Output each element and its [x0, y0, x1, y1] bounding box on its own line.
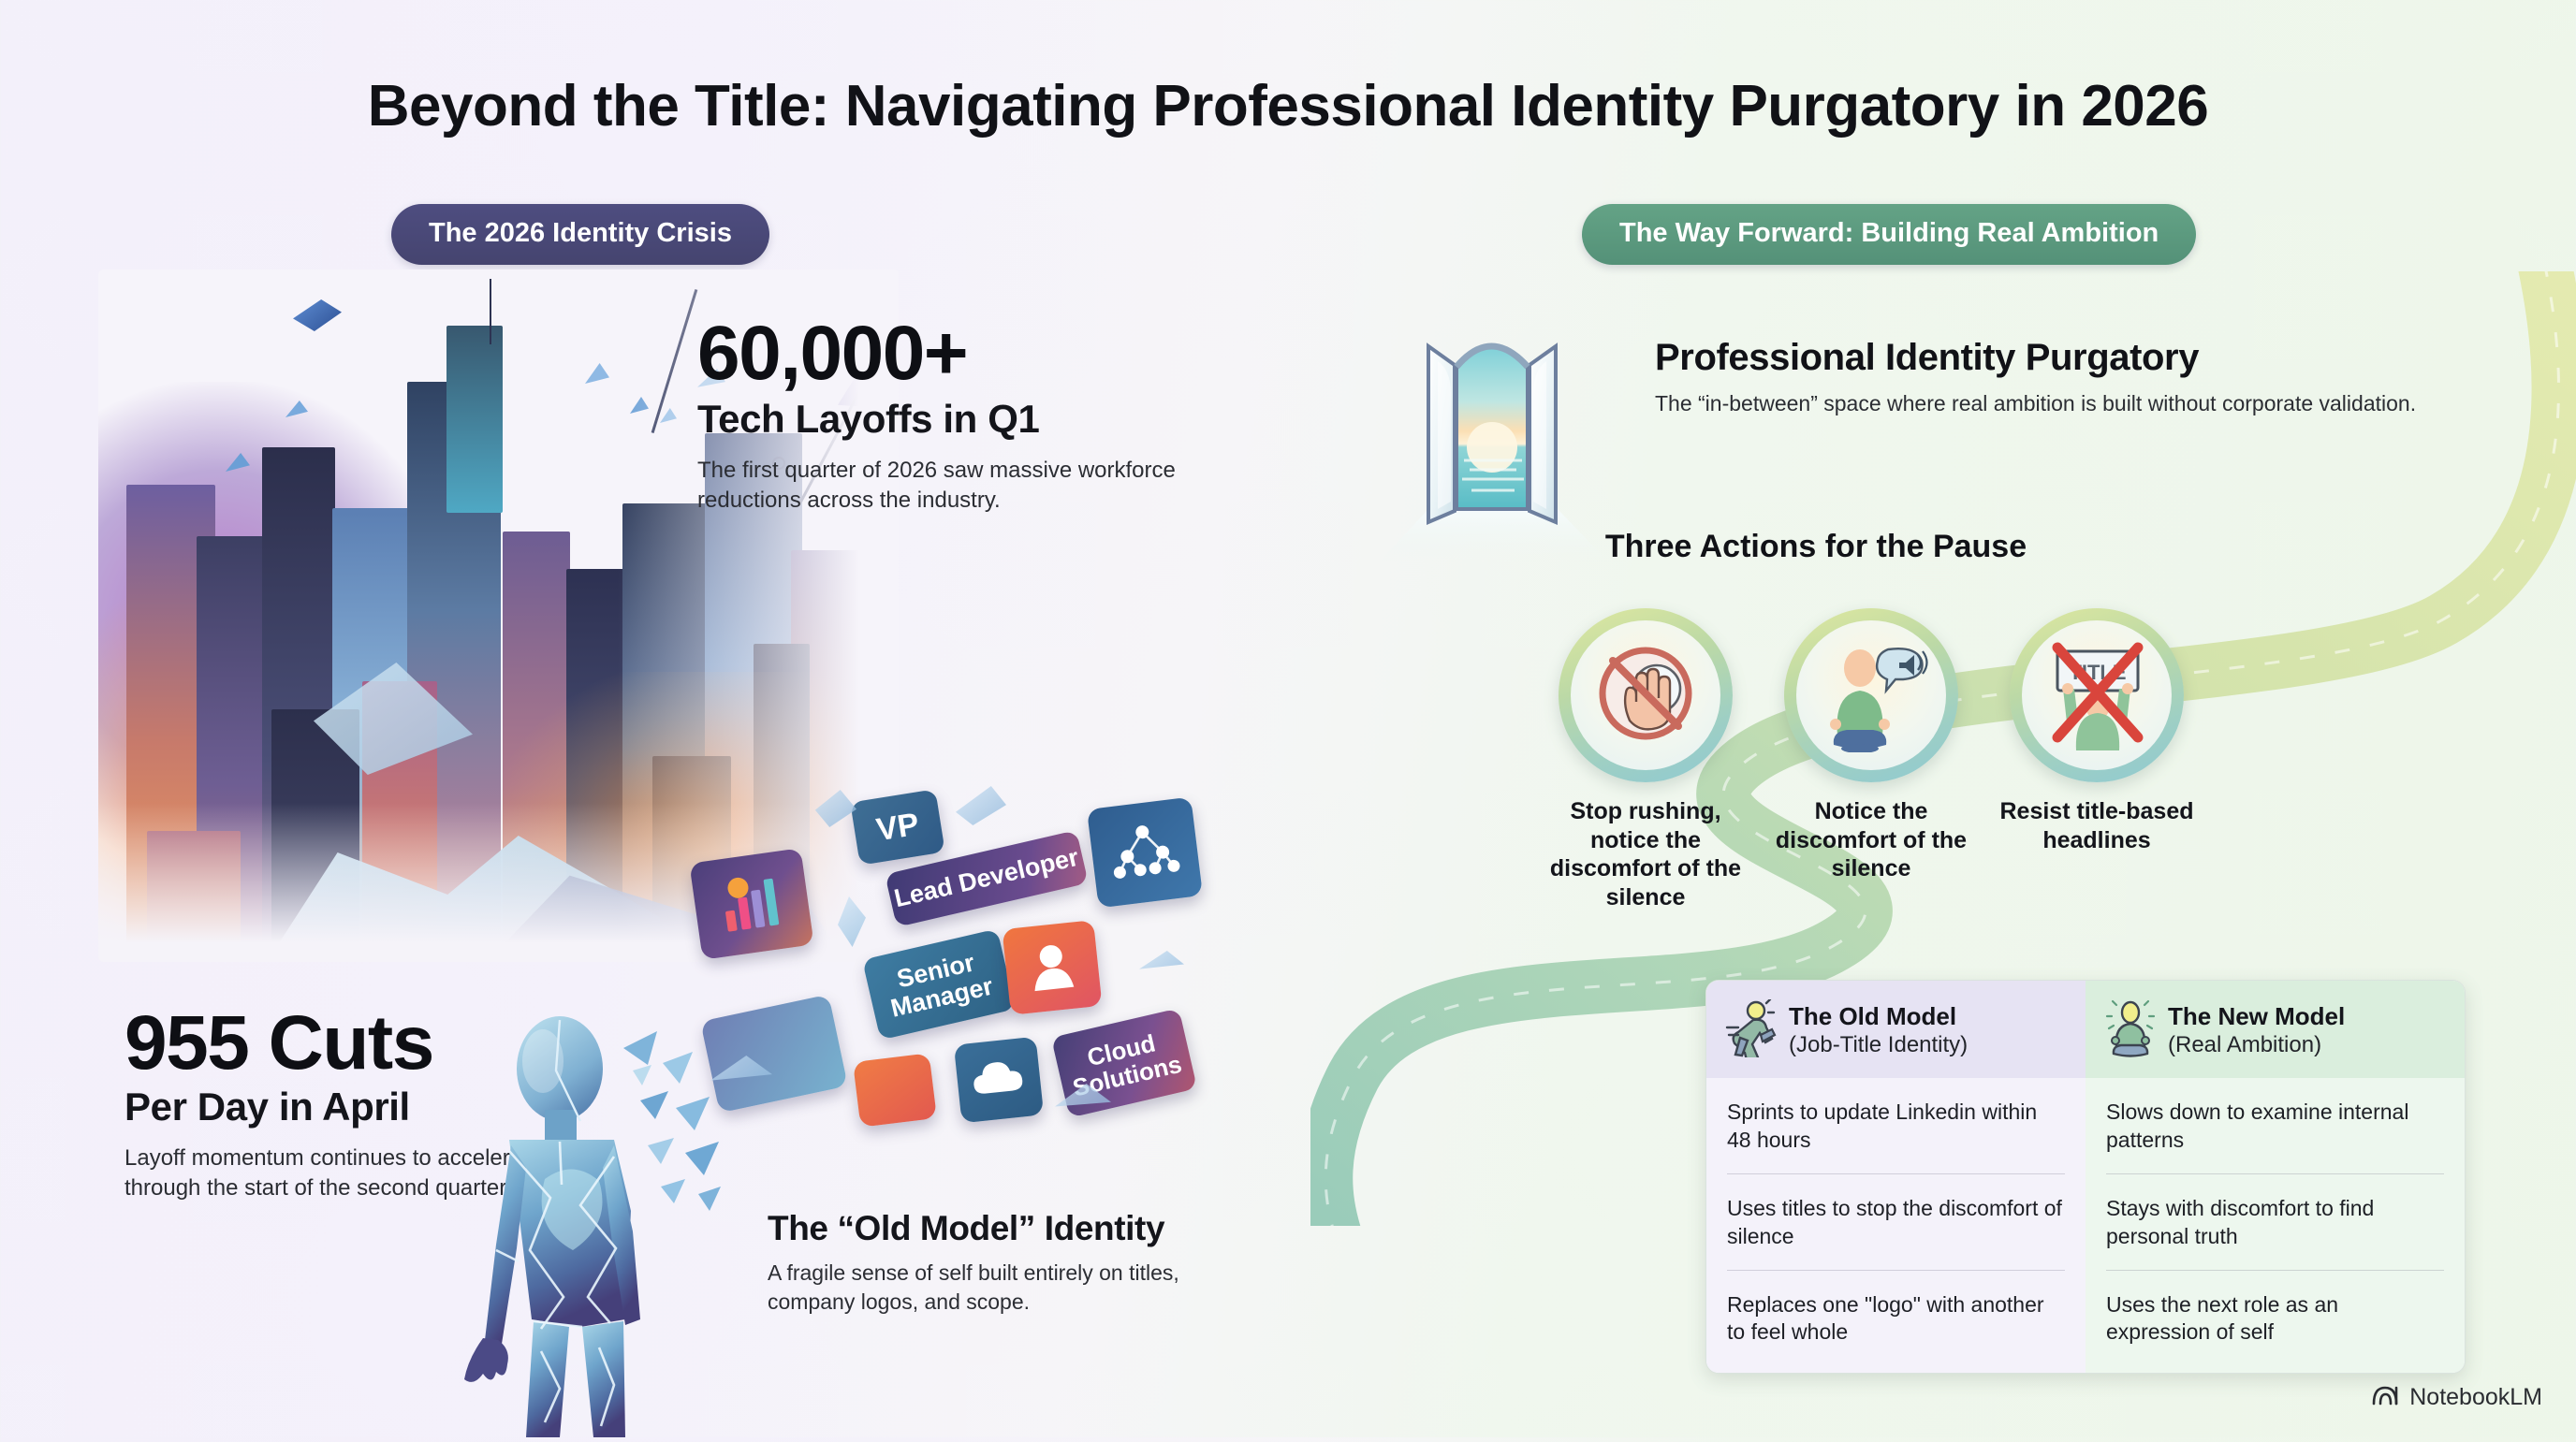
- action-2-ring: [1784, 608, 1958, 782]
- comparison-row: Sprints to update Linkedin within 48 hou…: [1727, 1078, 2065, 1174]
- right-section-badge-wrap: The Way Forward: Building Real Ambition: [1582, 204, 2196, 265]
- comparison-column-old: The Old Model (Job-Title Identity) Sprin…: [1706, 981, 2086, 1373]
- icon-card-blue-fragment: [700, 995, 848, 1114]
- meditating-person-sound-icon: [1809, 634, 1933, 757]
- action-3-caption: Resist title-based headlines: [1989, 797, 2204, 854]
- comparison-row: Uses the next role as an expression of s…: [2106, 1271, 2444, 1359]
- old-model-description: A fragile sense of self built entirely o…: [768, 1259, 1207, 1316]
- open-doorway-sunrise-illustration: [1374, 281, 1608, 561]
- icon-card-user-avatar: [1002, 920, 1102, 1015]
- page-title: Beyond the Title: Navigating Professiona…: [0, 73, 2576, 139]
- icon-card-orange-small: [853, 1053, 937, 1127]
- comparison-row: Uses titles to stop the discomfort of si…: [1727, 1174, 2065, 1271]
- comparison-column-new: The New Model (Real Ambition) Slows down…: [2086, 981, 2465, 1373]
- title-card-vp: VP: [850, 789, 945, 866]
- stat-primary-number: 60,000+: [697, 316, 1222, 391]
- notebooklm-logo-icon: [2371, 1382, 2399, 1413]
- comparison-old-rows: Sprints to update Linkedin within 48 hou…: [1706, 1078, 2086, 1373]
- action-item-1: Stop rushing, notice the discomfort of t…: [1538, 608, 1753, 911]
- stat-block-primary: 60,000+ Tech Layoffs in Q1 The first qua…: [697, 316, 1222, 516]
- purgatory-heading: Professional Identity Purgatory: [1655, 337, 2422, 379]
- glass-shard: [812, 790, 856, 827]
- icon-card-cloud: [954, 1037, 1044, 1124]
- icon-card-bar-chart: [689, 848, 813, 960]
- action-2-caption: Notice the discomfort of the silence: [1764, 797, 1979, 883]
- old-model-heading: The “Old Model” Identity: [768, 1209, 1207, 1247]
- crossed-out-title-sign-icon: TITLE: [2035, 634, 2159, 757]
- floating-title-cards-group: VP Lead Developer: [688, 786, 1231, 1123]
- cloud-icon: [970, 1056, 1029, 1105]
- icon-card-network-nodes: [1087, 797, 1203, 909]
- comparison-old-header: The Old Model (Job-Title Identity): [1706, 981, 2086, 1078]
- stop-hand-clock-icon: [1587, 634, 1705, 757]
- comparison-new-rows: Slows down to examine internal patterns …: [2086, 1078, 2465, 1373]
- glass-shard: [838, 896, 866, 947]
- left-section-badge-wrap: The 2026 Identity Crisis: [391, 204, 769, 265]
- purgatory-text-block: Professional Identity Purgatory The “in-…: [1655, 337, 2422, 417]
- running-person-icon: [1725, 999, 1778, 1062]
- comparison-row: Slows down to examine internal patterns: [2106, 1078, 2444, 1174]
- glass-shard: [1139, 951, 1184, 977]
- comparison-row: Stays with discomfort to find personal t…: [2106, 1174, 2444, 1271]
- title-card-senior-manager: Senior Manager: [862, 928, 1016, 1040]
- bar-chart-icon: [713, 869, 790, 939]
- comparison-new-header: The New Model (Real Ambition): [2086, 981, 2465, 1078]
- meditating-person-icon: [2104, 999, 2157, 1062]
- comparison-old-subtitle: (Job-Title Identity): [1789, 1032, 1968, 1058]
- action-1-caption: Stop rushing, notice the discomfort of t…: [1538, 797, 1753, 911]
- comparison-table: The Old Model (Job-Title Identity) Sprin…: [1705, 980, 2466, 1374]
- action-3-ring: TITLE: [2010, 608, 2184, 782]
- comparison-new-subtitle: (Real Ambition): [2168, 1032, 2345, 1058]
- user-avatar-icon: [1023, 938, 1081, 998]
- purgatory-description: The “in-between” space where real ambiti…: [1655, 389, 2422, 417]
- stat-primary-description: The first quarter of 2026 saw massive wo…: [697, 456, 1222, 515]
- left-section-badge: The 2026 Identity Crisis: [391, 204, 769, 265]
- stat-primary-label: Tech Layoffs in Q1: [697, 397, 1222, 441]
- three-actions-heading: Three Actions for the Pause: [1526, 529, 2106, 565]
- comparison-old-title: The Old Model: [1789, 1003, 1968, 1030]
- comparison-new-title: The New Model: [2168, 1003, 2345, 1030]
- old-model-text-block: The “Old Model” Identity A fragile sense…: [768, 1209, 1207, 1316]
- action-item-2: Notice the discomfort of the silence: [1764, 608, 1979, 883]
- notebooklm-watermark: NotebookLM: [2371, 1382, 2542, 1413]
- action-1-ring: [1559, 608, 1733, 782]
- comparison-row: Replaces one "logo" with another to feel…: [1727, 1271, 2065, 1359]
- infographic-canvas: Beyond the Title: Navigating Professiona…: [0, 0, 2576, 1437]
- right-section-badge: The Way Forward: Building Real Ambition: [1582, 204, 2196, 265]
- notebooklm-label: NotebookLM: [2409, 1384, 2542, 1411]
- network-nodes-icon: [1106, 818, 1182, 887]
- glass-shard: [956, 786, 1006, 825]
- action-item-3: TITLE Resist title-based headl: [1989, 608, 2204, 854]
